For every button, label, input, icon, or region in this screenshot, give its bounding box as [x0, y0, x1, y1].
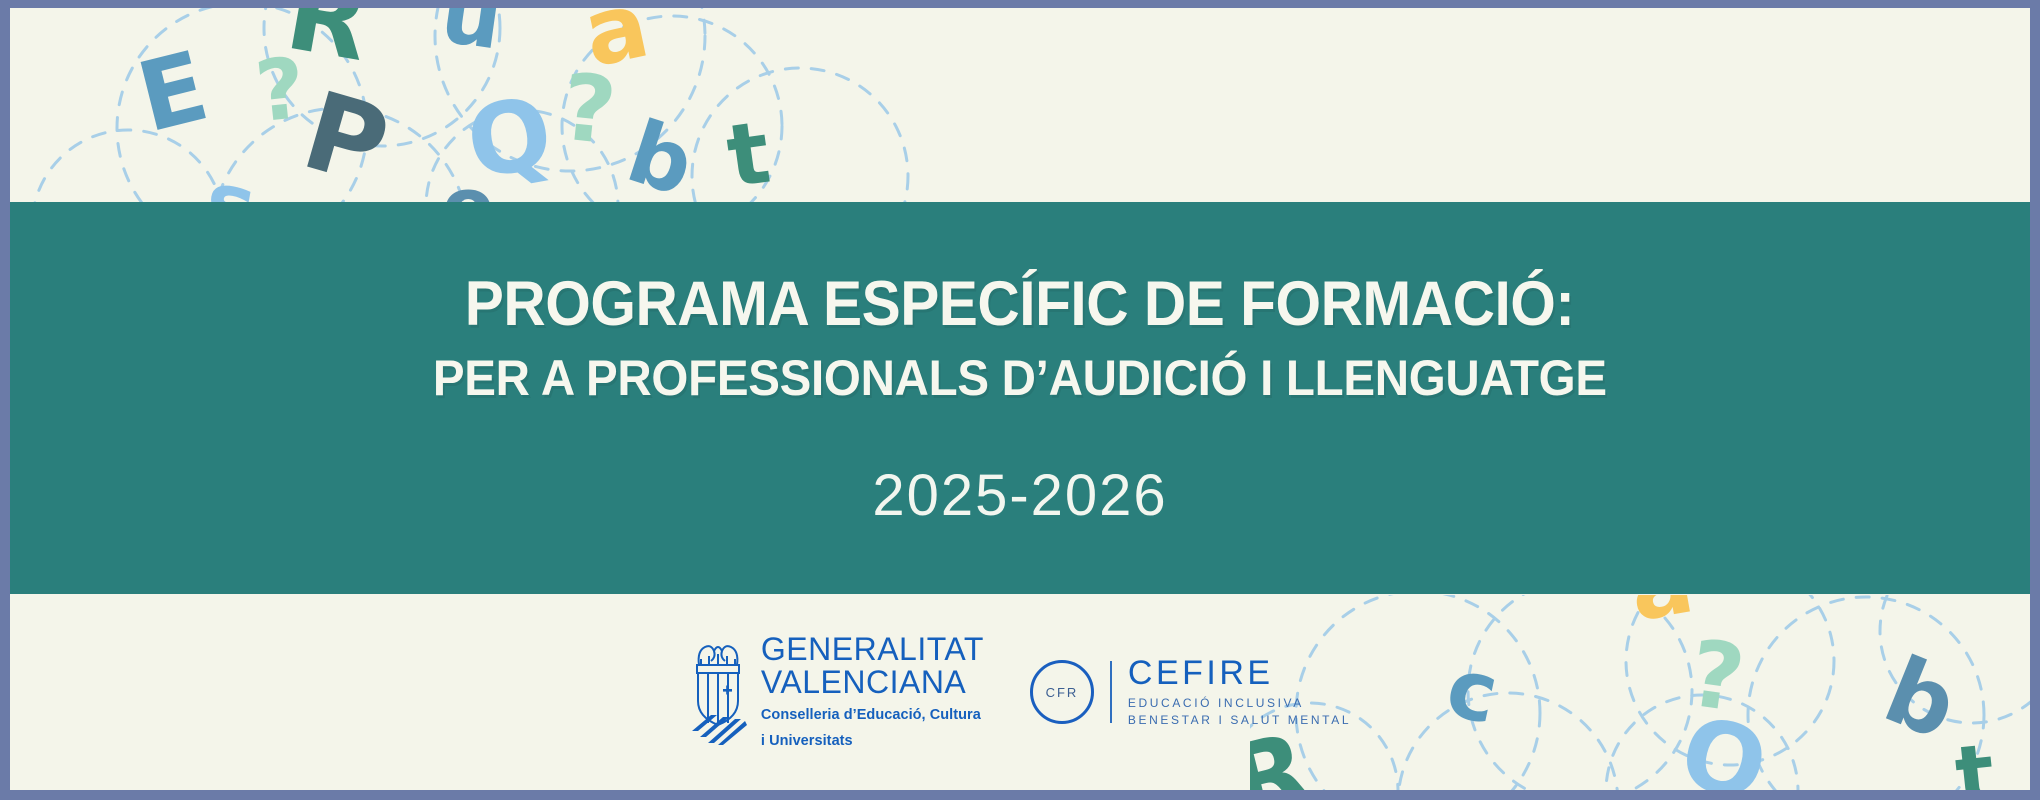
academic-year: 2025-2026 — [872, 462, 1167, 529]
deco-letter: ? — [557, 61, 620, 158]
cefire-divider — [1110, 661, 1112, 723]
title-band: PROGRAMA ESPECÍFIC DE FORMACIÓ: PER A PR… — [10, 202, 2030, 594]
poster-frame: E R ? u a P Q ? b t s o PROGRAMA ESPECÍF… — [0, 0, 2040, 800]
cfr-badge-icon: CFR — [1030, 660, 1094, 724]
cefire-subtitle-line1: EDUCACIÓ INCLUSIVA — [1128, 695, 1351, 711]
conselleria-line2: i Universitats — [761, 732, 984, 751]
deco-letter: E — [129, 37, 216, 146]
deco-letter: a — [576, 8, 656, 81]
logo-strip: GENERALITAT VALENCIANA Conselleria d’Edu… — [10, 594, 2030, 790]
deco-letter: Q — [460, 84, 559, 195]
cefire-name: CEFIRE — [1128, 656, 1351, 690]
cefire-logo: CFR CEFIRE EDUCACIÓ INCLUSIVA BENESTAR I… — [1030, 656, 1351, 727]
dashed-circles-top — [10, 8, 910, 208]
deco-letter: ? — [252, 46, 309, 135]
generalitat-text-block: GENERALITAT VALENCIANA Conselleria d’Edu… — [761, 633, 984, 751]
cefire-subtitle-line2: BENESTAR I SALUT MENTAL — [1128, 712, 1351, 728]
cefire-text-block: CEFIRE EDUCACIÓ INCLUSIVA BENESTAR I SAL… — [1128, 656, 1351, 727]
deco-letter: b — [618, 109, 703, 208]
page-title-line1: PROGRAMA ESPECÍFIC DE FORMACIÓ: — [465, 267, 1575, 341]
deco-letter: t — [722, 110, 775, 201]
deco-letter: R — [280, 8, 377, 76]
decoration-top-left: E R ? u a P Q ? b t s o — [10, 8, 910, 208]
generalitat-name-line2: VALENCIANA — [761, 666, 984, 699]
poster-canvas: E R ? u a P Q ? b t s o PROGRAMA ESPECÍF… — [10, 8, 2030, 790]
page-title-line2: PER A PROFESSIONALS D’AUDICIÓ I LLENGUAT… — [433, 347, 1607, 410]
generalitat-valenciana-logo: GENERALITAT VALENCIANA Conselleria d’Edu… — [689, 633, 984, 751]
conselleria-line1: Conselleria d’Educació, Cultura — [761, 706, 984, 725]
generalitat-valenciana-shield-icon — [689, 639, 747, 745]
generalitat-name-line1: GENERALITAT — [761, 633, 984, 666]
cfr-badge-label: CFR — [1046, 685, 1079, 700]
deco-letter: s — [199, 160, 261, 208]
deco-letter: u — [436, 8, 507, 62]
deco-letter: P — [293, 77, 399, 203]
